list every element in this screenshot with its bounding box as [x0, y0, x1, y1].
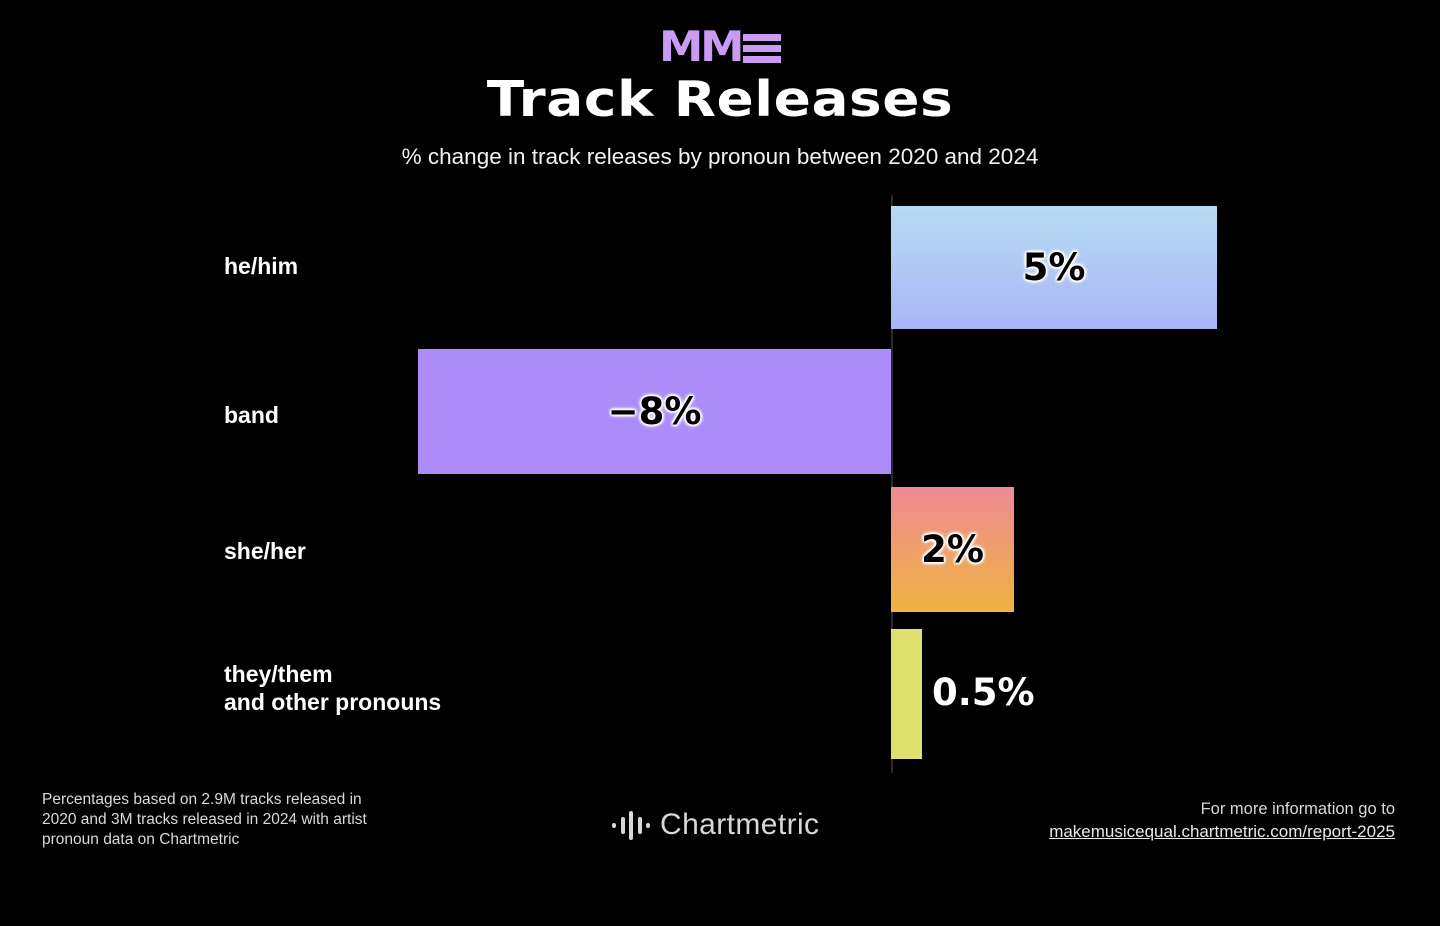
- more-info-block: For more information go to makemusicequa…: [1049, 798, 1395, 844]
- chartmetric-logo: Chartmetric: [612, 810, 819, 840]
- chart-row-he-him: he/him 5%: [0, 195, 1440, 345]
- category-label-he-him: he/him: [224, 252, 298, 280]
- mme-logo-bars-icon: [743, 34, 781, 63]
- report-link[interactable]: makemusicequal.chartmetric.com/report-20…: [1049, 820, 1395, 844]
- chartmetric-wordmark: Chartmetric: [660, 810, 819, 840]
- bar-value-he-him: 5%: [1023, 249, 1086, 286]
- bar-value-they-them: 0.5%: [932, 674, 1035, 711]
- bar-value-she-her: 2%: [921, 531, 984, 568]
- bar-she-her[interactable]: 2%: [891, 487, 1014, 612]
- chart-row-they-them: they/them and other pronouns 0.5%: [0, 639, 1440, 790]
- bar-chart: he/him 5% band −8% she/her 2% they/them …: [0, 195, 1440, 790]
- header: MM Track Releases % change in track rele…: [0, 0, 1440, 169]
- bar-band[interactable]: −8%: [418, 349, 891, 474]
- footnote-text: Percentages based on 2.9M tracks release…: [42, 790, 442, 850]
- bar-he-him[interactable]: 5%: [891, 206, 1217, 329]
- category-label-they-them: they/them and other pronouns: [224, 660, 441, 716]
- category-label-band: band: [224, 401, 279, 429]
- footer: Percentages based on 2.9M tracks release…: [0, 790, 1440, 926]
- bar-value-band: −8%: [608, 393, 702, 430]
- mme-logo: MM: [659, 30, 782, 64]
- chartmetric-waveform-icon: [612, 810, 650, 840]
- page-subtitle: % change in track releases by pronoun be…: [0, 146, 1440, 169]
- category-label-she-her: she/her: [224, 537, 306, 565]
- mme-logo-text: MM: [659, 30, 741, 64]
- more-info-label: For more information go to: [1049, 798, 1395, 820]
- chart-row-band: band −8%: [0, 345, 1440, 492]
- bar-they-them[interactable]: [891, 629, 922, 759]
- chart-row-she-her: she/her 2%: [0, 492, 1440, 639]
- page-title: Track Releases: [0, 75, 1440, 124]
